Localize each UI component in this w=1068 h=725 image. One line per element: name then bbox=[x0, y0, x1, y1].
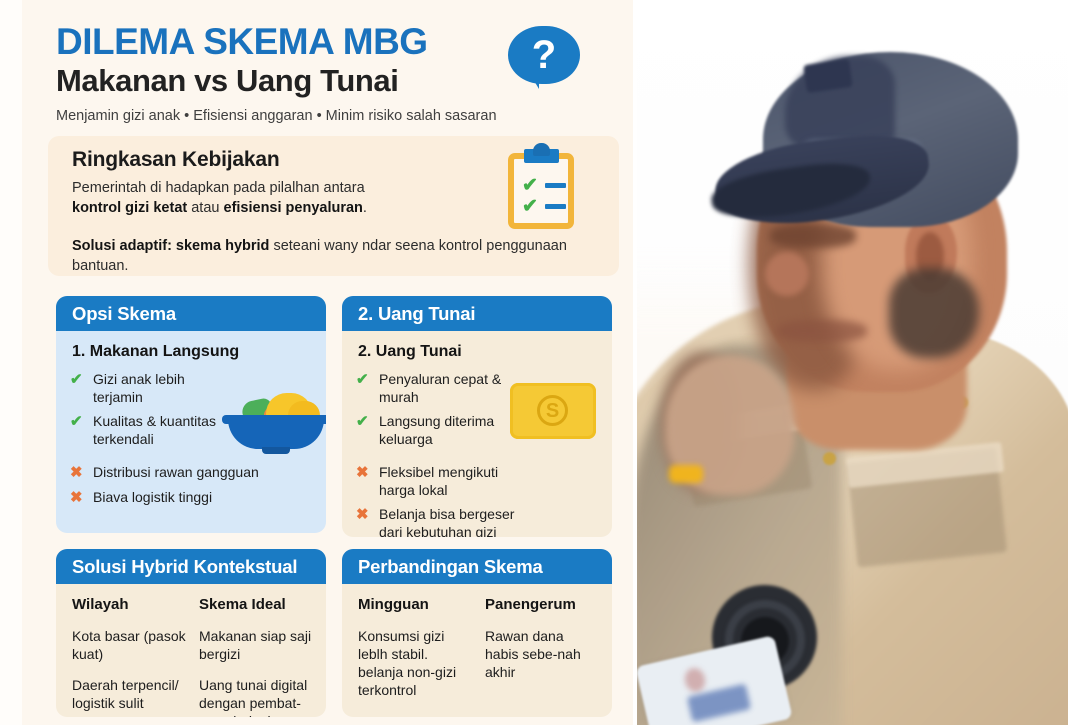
bullet-spacer bbox=[70, 455, 230, 464]
column-header: Panengerum bbox=[485, 596, 600, 613]
bullet-text: Gizi anak lebih terjamin bbox=[93, 371, 230, 406]
card-uang-tunai-title: 2. Uang Tunai bbox=[358, 303, 475, 325]
card-opsi-skema[interactable]: Opsi Skema 1. Makanan Langsung ✔ Gizi bbox=[56, 296, 326, 533]
list-item: ✖ Fleksibel mengikuti harga lokal bbox=[356, 464, 536, 499]
cross-icon: ✖ bbox=[356, 506, 371, 523]
list-item: ✖ Belanja bisa bergeser dari kebutuhan g… bbox=[356, 506, 536, 537]
clipboard-line-1 bbox=[545, 183, 566, 188]
card-solusi-hybrid-body: Wilayah Kota basar (pasok kuat) Daerah t… bbox=[56, 584, 326, 717]
opsi-option-title: 1. Makanan Langsung bbox=[72, 343, 239, 361]
clipboard-check-icon-2: ✔ bbox=[522, 197, 538, 216]
summary-paragraph-1: Pemerintah di hadapkan pada pilalhan ant… bbox=[72, 179, 402, 218]
question-bubble-icon: ? bbox=[508, 26, 580, 88]
background-glint bbox=[669, 465, 703, 483]
summary-heading: Ringkasan Kebijakan bbox=[72, 148, 279, 172]
card-solusi-hybrid-header: Solusi Hybrid Kontekstual bbox=[56, 549, 326, 584]
summary-p2-bold: Solusi adaptif: skema hybrid bbox=[72, 238, 269, 254]
banknote-symbol: S bbox=[537, 395, 568, 426]
card-perbandingan-title: Perbandingan Skema bbox=[358, 556, 543, 578]
cross-icon: ✖ bbox=[356, 464, 371, 481]
list-item: ✔ Penyaluran cepat & murah bbox=[356, 371, 524, 406]
bullet-text: Biava logistik tinggi bbox=[93, 489, 212, 507]
check-icon: ✔ bbox=[70, 371, 85, 388]
card-perbandingan-skema[interactable]: Perbandingan Skema Mingguan Konsumsi giz… bbox=[342, 549, 612, 717]
opsi-bullet-list: ✔ Gizi anak lebih terjamin ✔ Kualitas & … bbox=[70, 371, 230, 513]
subject-hair bbox=[889, 268, 979, 358]
table-cell: Uang tunai digital dengan pembat-asan be… bbox=[199, 676, 314, 717]
table-cell: Daerah terpencil/ logistik sulit bbox=[72, 676, 187, 712]
hybrid-table: Wilayah Kota basar (pasok kuat) Daerah t… bbox=[72, 596, 314, 717]
list-item: ✔ Kualitas & kuantitas terkendali bbox=[70, 413, 230, 448]
bullet-text: Penyaluran cepat & murah bbox=[379, 371, 524, 406]
subject-mouth bbox=[777, 320, 867, 342]
rice-bowl-icon bbox=[222, 391, 326, 459]
cross-icon: ✖ bbox=[70, 464, 85, 481]
table-cell: Kota basar (pasok kuat) bbox=[72, 627, 187, 663]
card-uang-tunai-header: 2. Uang Tunai bbox=[342, 296, 612, 331]
check-icon: ✔ bbox=[356, 371, 371, 388]
column-header: Wilayah bbox=[72, 596, 187, 613]
subject-nose bbox=[765, 252, 809, 296]
card-solusi-hybrid[interactable]: Solusi Hybrid Kontekstual Wilayah Kota b… bbox=[56, 549, 326, 717]
tagline: Menjamin gizi anak • Efisiensi anggaran … bbox=[56, 106, 616, 126]
clipboard-check-icon-1: ✔ bbox=[522, 176, 538, 195]
clipboard-row-2: ✔ bbox=[522, 197, 566, 216]
card-perbandingan-header: Perbandingan Skema bbox=[342, 549, 612, 584]
check-icon: ✔ bbox=[356, 413, 371, 430]
check-icon: ✔ bbox=[70, 413, 85, 430]
card-uang-tunai-body: 2. Uang Tunai S ✔ Penyaluran cepat & mur… bbox=[342, 331, 612, 537]
list-item: ✖ Distribusi rawan gangguan bbox=[70, 464, 320, 482]
list-item: ✖ Biava logistik tinggi bbox=[70, 489, 320, 507]
cross-icon: ✖ bbox=[70, 489, 85, 506]
bullet-text: Distribusi rawan gangguan bbox=[93, 464, 259, 482]
bullet-text: Kualitas & kuantitas terkendali bbox=[93, 413, 230, 448]
clipboard-line-2 bbox=[545, 204, 566, 209]
list-item: ✔ Gizi anak lebih terjamin bbox=[70, 371, 230, 406]
bullet-text: Belanja bisa bergeser dari kebutuhan giz… bbox=[379, 506, 536, 537]
shirt-button-2 bbox=[823, 452, 836, 465]
summary-paragraph-2: Solusi adaptif: skema hybrid seteani wan… bbox=[72, 237, 572, 276]
bullet-text: Langsung diterima keluarga bbox=[379, 413, 524, 448]
summary-p1-e: . bbox=[363, 200, 367, 216]
bowl-foot bbox=[262, 447, 290, 454]
bullet-spacer bbox=[356, 455, 524, 464]
perbandingan-table: Mingguan Konsumsi gizi leblh stabil. bel… bbox=[358, 596, 600, 712]
screenshot-stage: DILEMA SKEMA MBG Makanan vs Uang Tunai M… bbox=[0, 0, 1068, 725]
clipboard-checklist-icon: ✔ ✔ bbox=[500, 143, 582, 231]
column-header: Mingguan bbox=[358, 596, 473, 613]
table-cell: Rawan dana habis sebe-nah akhir bbox=[485, 627, 600, 681]
summary-p1-a: Pemerintah di hadapkan pada pilalhan ant… bbox=[72, 180, 365, 196]
hybrid-column-skema: Skema Ideal Makanan siap saji bergizi Ua… bbox=[199, 596, 314, 717]
column-header: Skema Ideal bbox=[199, 596, 314, 613]
bowl-dish bbox=[228, 419, 324, 449]
subject-brow bbox=[770, 224, 856, 248]
news-photo bbox=[637, 0, 1068, 725]
card-perbandingan-body: Mingguan Konsumsi gizi leblh stabil. bel… bbox=[342, 584, 612, 717]
card-uang-tunai[interactable]: 2. Uang Tunai 2. Uang Tunai S ✔ Penyalur… bbox=[342, 296, 612, 537]
tunai-option-title: 2. Uang Tunai bbox=[358, 343, 462, 361]
summary-p1-bold-2: efisiensi penyaluran bbox=[224, 200, 363, 216]
table-cell: Makanan siap saji bergizi bbox=[199, 627, 314, 663]
table-cell: Konsumsi gizi leblh stabil. belanja non-… bbox=[358, 627, 473, 699]
card-opsi-skema-header: Opsi Skema bbox=[56, 296, 326, 331]
summary-p1-bold-1: kontrol gizi ketat bbox=[72, 200, 187, 216]
summary-p1-c: atau bbox=[187, 200, 223, 216]
card-opsi-skema-body: 1. Makanan Langsung ✔ Gizi anak lebih te… bbox=[56, 331, 326, 533]
infographic-panel: DILEMA SKEMA MBG Makanan vs Uang Tunai M… bbox=[0, 0, 633, 725]
clipboard-knob bbox=[533, 143, 550, 156]
perbandingan-column-mingguan: Mingguan Konsumsi gizi leblh stabil. bel… bbox=[358, 596, 473, 712]
card-opsi-skema-title: Opsi Skema bbox=[72, 303, 176, 325]
perbandingan-column-panengerum: Panengerum Rawan dana habis sebe-nah akh… bbox=[485, 596, 600, 712]
clipboard-row-1: ✔ bbox=[522, 176, 566, 195]
list-item: ✔ Langsung diterima keluarga bbox=[356, 413, 524, 448]
question-mark-glyph: ? bbox=[508, 26, 580, 84]
panel-left-edge bbox=[0, 0, 22, 725]
bullet-text: Fleksibel mengikuti harga lokal bbox=[379, 464, 536, 499]
tunai-bullet-list: ✔ Penyaluran cepat & murah ✔ Langsung di… bbox=[356, 371, 524, 537]
card-solusi-hybrid-title: Solusi Hybrid Kontekstual bbox=[72, 556, 297, 578]
hybrid-column-wilayah: Wilayah Kota basar (pasok kuat) Daerah t… bbox=[72, 596, 187, 717]
